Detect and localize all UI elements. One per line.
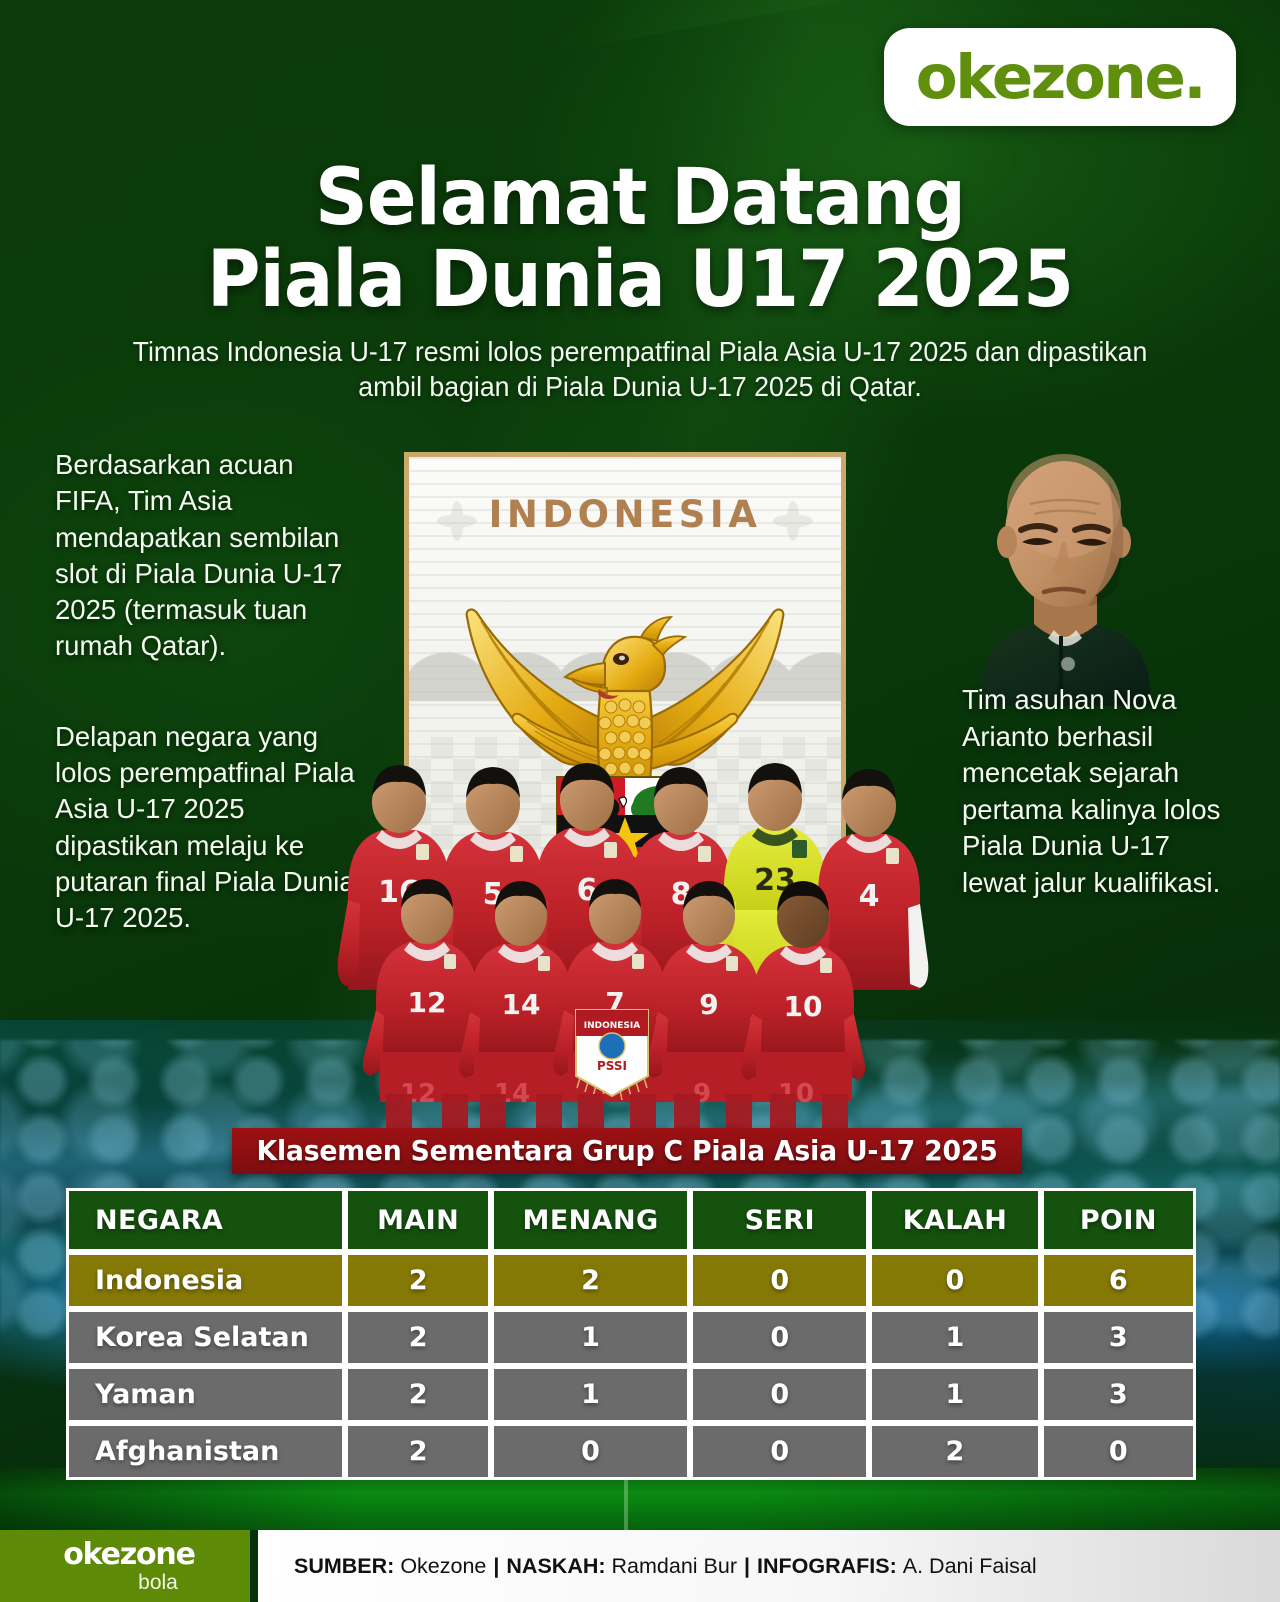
credit-naskah-value: Ramdani Bur — [612, 1554, 737, 1579]
column-header-kalah: KALAH — [869, 1188, 1040, 1252]
svg-text:12: 12 — [408, 986, 447, 1019]
pssi-pennant: INDONESIA PSSI — [576, 1010, 648, 1100]
credit-infografis-value: A. Dani Faisal — [903, 1554, 1037, 1579]
page-subtitle: Timnas Indonesia U-17 resmi lolos peremp… — [101, 335, 1180, 405]
table-row: Afghanistan 2 0 0 2 0 — [66, 1423, 1196, 1480]
cell-main: 2 — [345, 1252, 490, 1309]
column-header-poin: POIN — [1041, 1188, 1196, 1252]
standings-banner: Klasemen Sementara Grup C Piala Asia U-1… — [232, 1128, 1022, 1174]
cell-menang: 0 — [491, 1423, 690, 1480]
coach-portrait — [958, 438, 1173, 706]
left-text-column: Berdasarkan acuan FIFA, Tim Asia mendapa… — [55, 447, 365, 937]
table-row: Indonesia 2 2 0 0 6 — [66, 1252, 1196, 1309]
cell-seri: 0 — [690, 1309, 869, 1366]
cell-kalah: 2 — [869, 1423, 1040, 1480]
page-title: Selamat Datang Piala Dunia U17 2025 — [38, 160, 1241, 319]
column-header-main: MAIN — [345, 1188, 490, 1252]
cell-negara: Afghanistan — [66, 1423, 345, 1480]
table-header-row: NEGARA MAIN MENANG SERI KALAH POIN — [66, 1188, 1196, 1252]
svg-text:14: 14 — [502, 988, 541, 1021]
credit-separator-2: | — [744, 1554, 750, 1579]
credit-naskah-label: NASKAH: — [506, 1554, 605, 1579]
credit-infografis-label: INFOGRAFIS: — [757, 1554, 897, 1579]
standings-table: NEGARA MAIN MENANG SERI KALAH POIN Indon… — [66, 1188, 1196, 1480]
infographic-root: okezone. Selamat Datang Piala Dunia U17 … — [0, 0, 1280, 1602]
cell-main: 2 — [345, 1366, 490, 1423]
credit-sumber-value: Okezone — [400, 1554, 486, 1579]
cell-kalah: 1 — [869, 1366, 1040, 1423]
cell-poin: 0 — [1041, 1423, 1196, 1480]
page-title-line2: Piala Dunia U17 2025 — [38, 242, 1241, 318]
cell-negara: Indonesia — [66, 1252, 345, 1309]
cell-main: 2 — [345, 1309, 490, 1366]
logo-dot: . — [1183, 42, 1204, 113]
column-header-negara: NEGARA — [66, 1188, 345, 1252]
footer-logo-sub: bola — [138, 1572, 178, 1593]
team-photo: 16 5 6 — [330, 690, 940, 1130]
country-label: INDONESIA — [409, 493, 841, 536]
footer-logo-main: okezone — [63, 1540, 194, 1570]
table-row: Yaman 2 1 0 1 3 — [66, 1366, 1196, 1423]
cell-seri: 0 — [690, 1423, 869, 1480]
cell-poin: 3 — [1041, 1309, 1196, 1366]
okezone-logo-text: okezone. — [916, 42, 1204, 113]
footer-bar: okezone bola SUMBER: Okezone | NASKAH: R… — [0, 1530, 1280, 1602]
right-text-column: Tim asuhan Nova Arianto berhasil menceta… — [962, 682, 1222, 901]
cell-seri: 0 — [690, 1252, 869, 1309]
cell-menang: 2 — [491, 1252, 690, 1309]
cell-negara: Korea Selatan — [66, 1309, 345, 1366]
cell-kalah: 1 — [869, 1309, 1040, 1366]
footer-credits: SUMBER: Okezone | NASKAH: Ramdani Bur | … — [258, 1530, 1280, 1602]
svg-text:4: 4 — [859, 879, 880, 914]
svg-text:9: 9 — [699, 988, 718, 1021]
cell-menang: 1 — [491, 1309, 690, 1366]
cell-poin: 3 — [1041, 1366, 1196, 1423]
credit-sumber-label: SUMBER: — [294, 1554, 394, 1579]
svg-text:INDONESIA: INDONESIA — [584, 1021, 641, 1031]
okezone-bola-logo[interactable]: okezone bola — [0, 1530, 250, 1602]
cell-main: 2 — [345, 1423, 490, 1480]
footer-divider — [250, 1530, 258, 1602]
standings-banner-text: Klasemen Sementara Grup C Piala Asia U-1… — [256, 1135, 997, 1167]
cell-menang: 1 — [491, 1366, 690, 1423]
okezone-logo[interactable]: okezone. — [884, 28, 1236, 126]
cell-kalah: 0 — [869, 1252, 1040, 1309]
table-row: Korea Selatan 2 1 0 1 3 — [66, 1309, 1196, 1366]
right-paragraph-1: Tim asuhan Nova Arianto berhasil menceta… — [962, 682, 1222, 901]
page-title-line1: Selamat Datang — [315, 153, 965, 243]
left-paragraph-1: Berdasarkan acuan FIFA, Tim Asia mendapa… — [55, 447, 365, 665]
credit-separator-1: | — [493, 1554, 499, 1579]
column-header-menang: MENANG — [491, 1188, 690, 1252]
left-paragraph-2: Delapan negara yang lolos perempatfinal … — [55, 719, 365, 937]
svg-text:10: 10 — [784, 990, 823, 1023]
cell-negara: Yaman — [66, 1366, 345, 1423]
cell-poin: 6 — [1041, 1252, 1196, 1309]
cell-seri: 0 — [690, 1366, 869, 1423]
svg-text:PSSI: PSSI — [597, 1059, 627, 1073]
column-header-seri: SERI — [690, 1188, 869, 1252]
